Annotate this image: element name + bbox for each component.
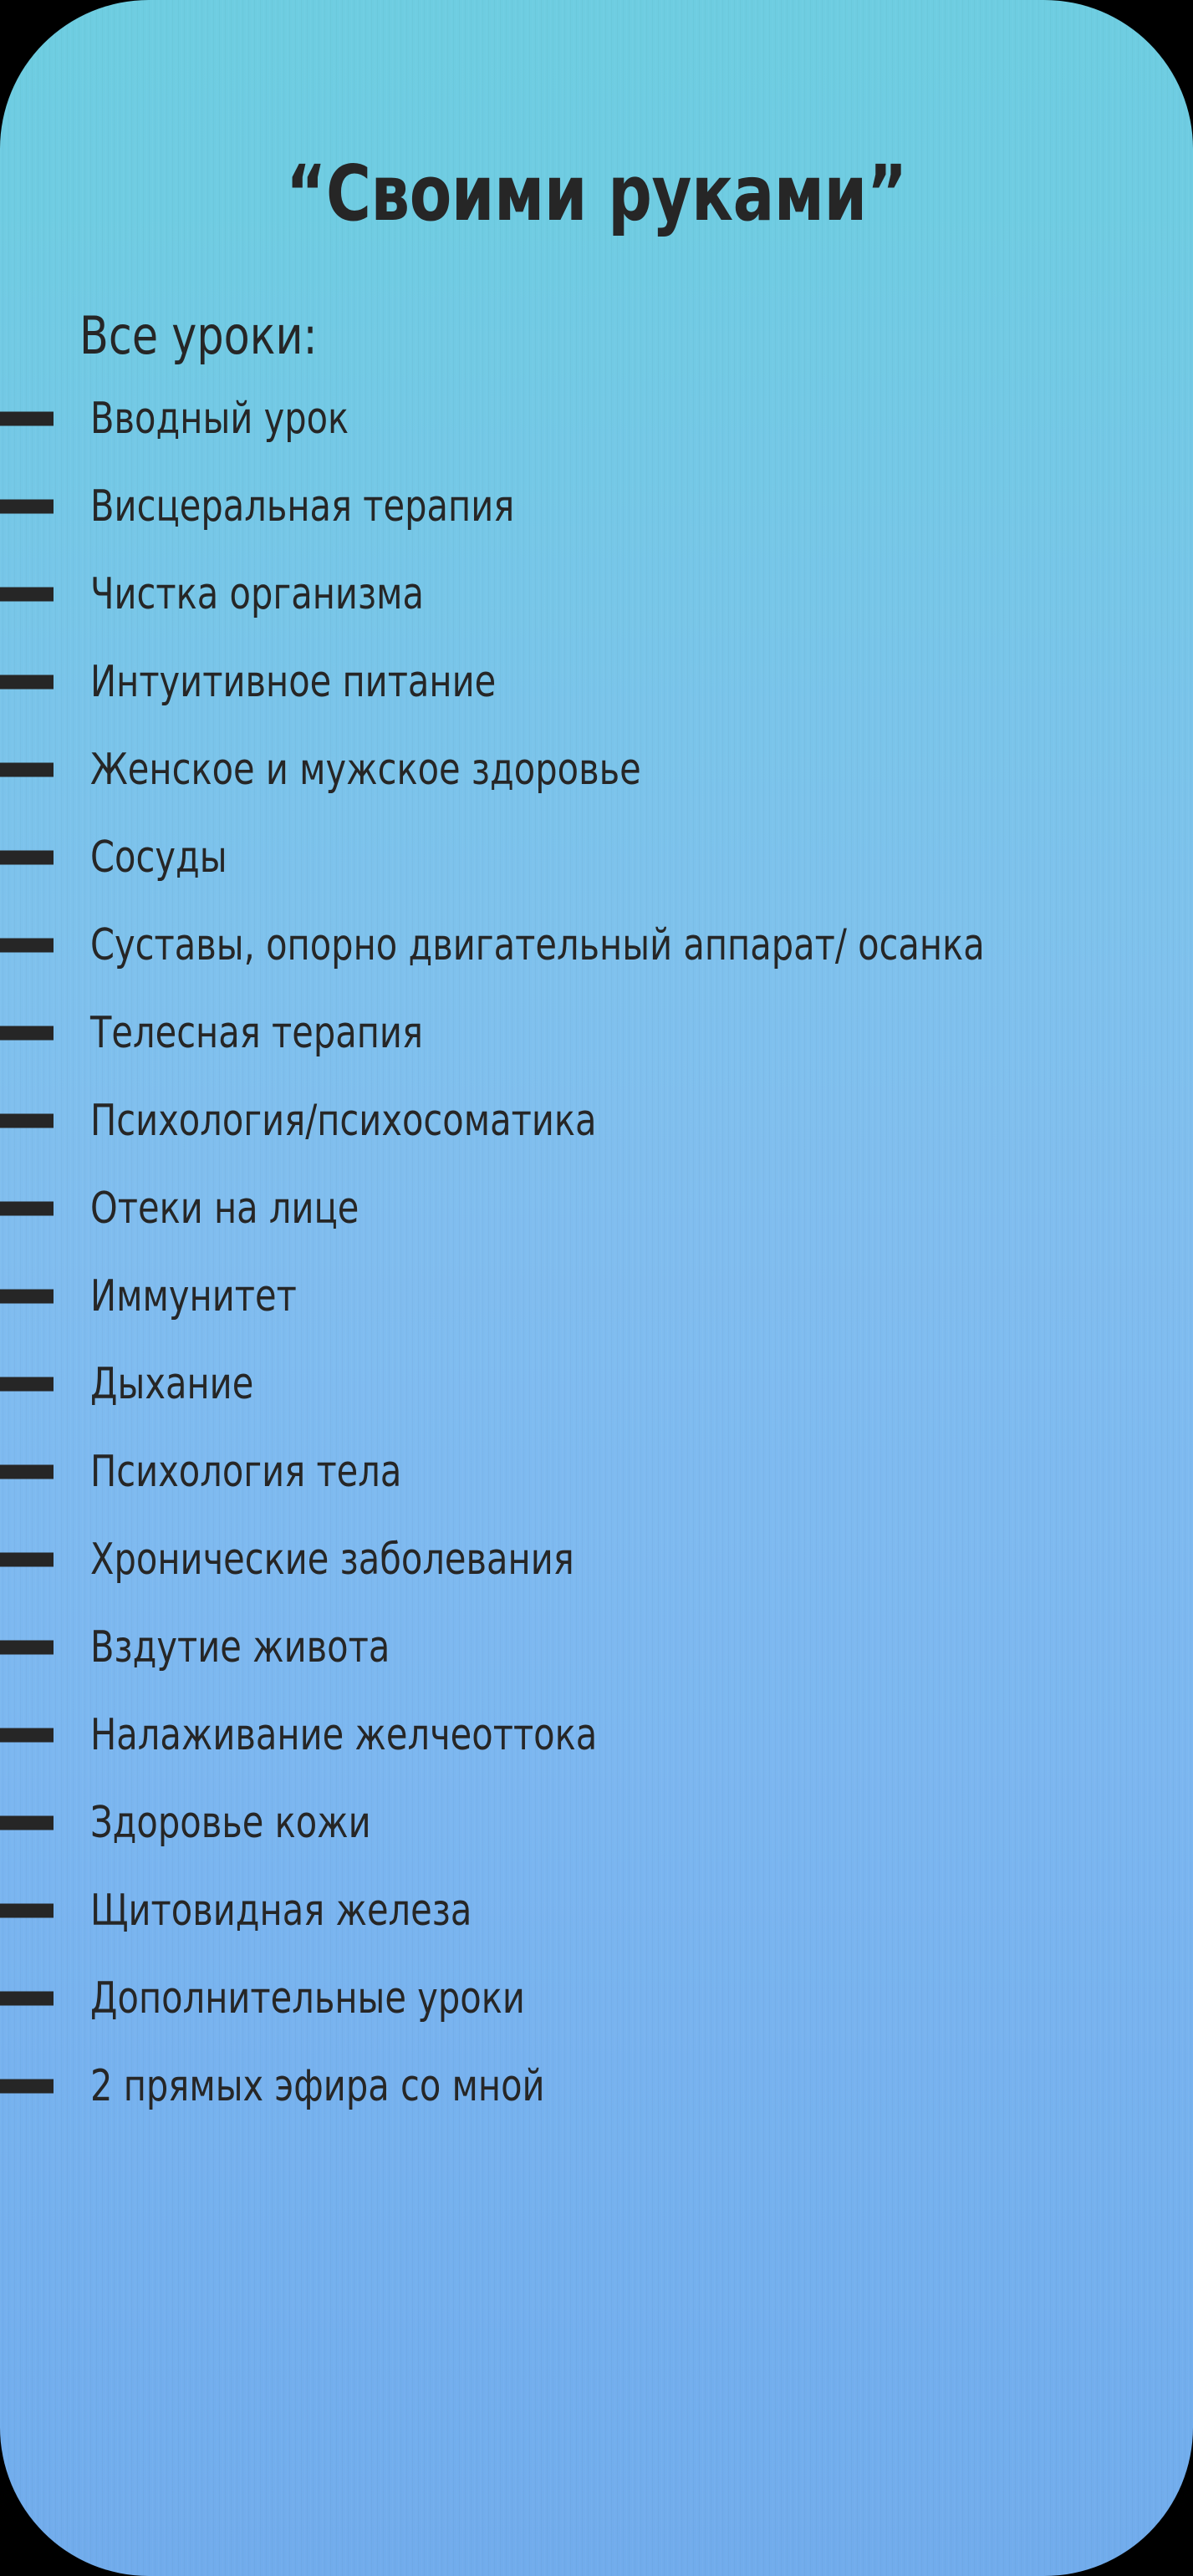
list-item[interactable]: Интуитивное питание [0,638,1193,725]
screen-root: “Своими руками” Все уроки: Вводный урокВ… [0,0,1193,2576]
list-item[interactable]: Здоровье кожи [0,1779,1193,1866]
dash-icon [0,1991,54,2005]
list-item[interactable]: Телесная терапия [0,989,1193,1077]
list-item[interactable]: Налаживание желчеоттока [0,1691,1193,1779]
dash-icon [0,1201,54,1215]
dash-icon [0,1377,54,1391]
list-item[interactable]: Хронические заболевания [0,1515,1193,1603]
list-item[interactable]: Отеки на лице [0,1164,1193,1252]
list-item[interactable]: Дополнительные уроки [0,1954,1193,2042]
lesson-label: Телесная терапия [90,1011,423,1055]
lesson-label: Здоровье кожи [90,1801,371,1845]
dash-icon [0,2079,54,2093]
dash-icon [0,1552,54,1566]
dash-icon [0,411,54,425]
list-item[interactable]: 2 прямых эфира со мной [0,2042,1193,2130]
lesson-list: Вводный урокВисцеральная терапияЧистка о… [0,374,1193,2130]
lesson-label: Интуитивное питание [90,660,496,704]
dash-icon [0,850,54,864]
lesson-label: Висцеральная терапия [90,485,514,528]
list-item[interactable]: Сосуды [0,813,1193,901]
list-item[interactable]: Психология/психосоматика [0,1077,1193,1164]
dash-icon [0,1289,54,1303]
dash-icon [0,1903,54,1917]
dash-icon [0,675,54,689]
card-content: “Своими руками” Все уроки: Вводный урокВ… [0,0,1193,2576]
dash-icon [0,1464,54,1479]
lesson-label: Психология/психосоматика [90,1099,597,1143]
list-item[interactable]: Суставы, опорно двигательный аппарат/ ос… [0,901,1193,989]
page-title: “Своими руками” [120,154,1074,235]
lesson-label: Отеки на лице [90,1187,359,1230]
list-item[interactable]: Психология тела [0,1428,1193,1515]
dash-icon [0,1026,54,1040]
list-item[interactable]: Висцеральная терапия [0,462,1193,550]
lesson-label: Щитовидная железа [90,1889,472,1932]
list-item[interactable]: Щитовидная железа [0,1866,1193,1954]
lesson-label: Психология тела [90,1450,401,1494]
lesson-label: Дополнительные уроки [90,1977,525,2020]
dash-icon [0,587,54,601]
lesson-label: Чистка организма [90,573,424,616]
dash-icon [0,499,54,513]
list-item[interactable]: Вводный урок [0,374,1193,462]
list-item[interactable]: Женское и мужское здоровье [0,725,1193,813]
lesson-label: Хронические заболевания [90,1538,574,1581]
list-item[interactable]: Иммунитет [0,1252,1193,1340]
lesson-label: Вводный урок [90,397,349,440]
lesson-label: Сосуды [90,836,227,879]
lesson-label: Налаживание желчеоттока [90,1713,597,1757]
lesson-label: Женское и мужское здоровье [90,748,641,792]
dash-icon [0,762,54,776]
dash-icon [0,1113,54,1128]
lesson-label: Вздутие живота [90,1626,390,1669]
dash-icon [0,938,54,952]
list-item[interactable]: Вздутие живота [0,1603,1193,1691]
lesson-label: 2 прямых эфира со мной [90,2064,545,2108]
list-item[interactable]: Дыхание [0,1340,1193,1428]
lesson-label: Иммунитет [90,1275,297,1318]
section-heading-all-lessons: Все уроки: [79,310,318,362]
dash-icon [0,1815,54,1830]
lesson-label: Дыхание [90,1362,253,1406]
dash-icon [0,1728,54,1742]
list-item[interactable]: Чистка организма [0,550,1193,638]
dash-icon [0,1640,54,1654]
lesson-label: Суставы, опорно двигательный аппарат/ ос… [90,924,985,967]
